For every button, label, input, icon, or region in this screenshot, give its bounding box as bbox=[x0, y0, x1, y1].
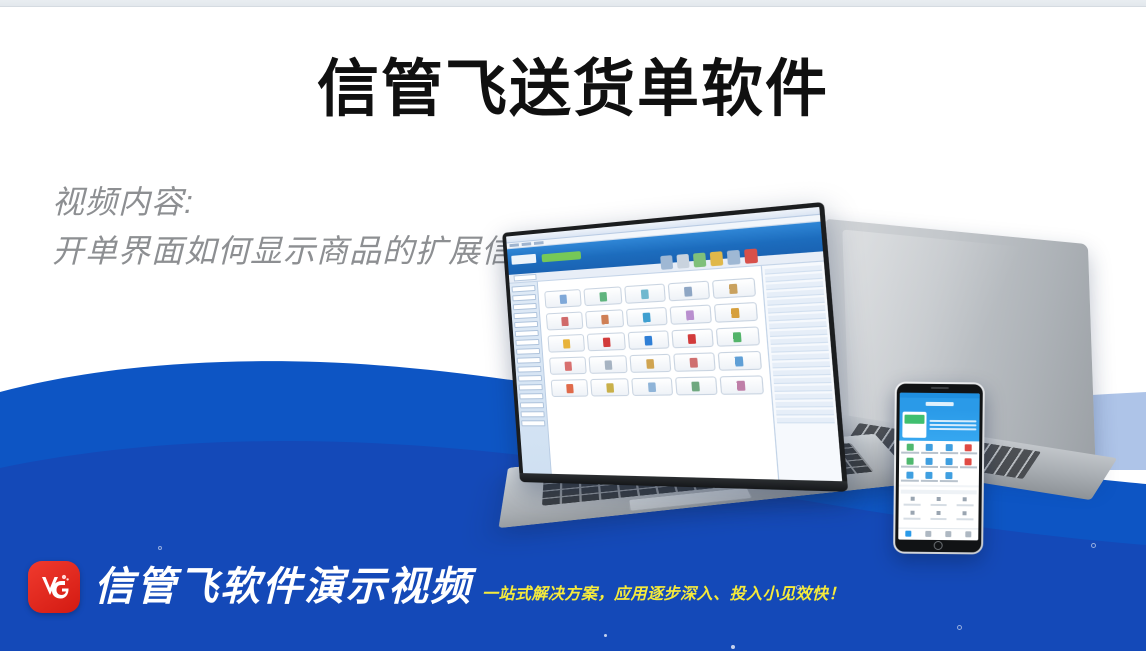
module-icon-glyph bbox=[729, 283, 738, 293]
phone-module-icon bbox=[940, 472, 958, 482]
module-icon bbox=[671, 328, 714, 348]
tab-reports-icon bbox=[945, 531, 951, 537]
stat-label bbox=[930, 518, 946, 520]
info-row bbox=[772, 353, 830, 360]
stat-value bbox=[936, 511, 940, 515]
phone-module-glyph bbox=[926, 444, 933, 451]
module-icon bbox=[626, 307, 667, 327]
phone-module-label bbox=[901, 479, 919, 481]
menu-item bbox=[534, 241, 544, 245]
stat-cell bbox=[900, 510, 923, 519]
stat-label bbox=[957, 504, 973, 506]
phone-module-glyph bbox=[906, 471, 913, 478]
phone-module-label bbox=[940, 466, 958, 468]
nav-item bbox=[518, 375, 542, 382]
module-icon-glyph bbox=[604, 360, 612, 370]
stats-header bbox=[901, 489, 977, 494]
footer-text-group: 信管飞软件演示视频 一站式解决方案，应用逐步深入、投入小见效快！ bbox=[94, 565, 845, 609]
module-icon-glyph bbox=[692, 381, 701, 391]
phone-module-label bbox=[901, 451, 919, 453]
module-icon-glyph bbox=[737, 380, 746, 390]
toolbar-button bbox=[660, 255, 673, 270]
stats-row bbox=[900, 510, 976, 520]
banner-device-image bbox=[902, 411, 926, 437]
module-icon-glyph bbox=[733, 332, 742, 342]
module-icon-glyph bbox=[561, 316, 569, 325]
module-icon bbox=[551, 379, 589, 397]
phone-module-icon bbox=[960, 458, 978, 468]
toolbar-button bbox=[676, 254, 689, 269]
stat-value bbox=[963, 497, 967, 501]
module-icon bbox=[669, 304, 712, 324]
phone-module-label bbox=[940, 480, 958, 482]
module-icon bbox=[716, 326, 761, 346]
nav-item bbox=[517, 357, 541, 364]
phone-stats-panel bbox=[898, 486, 978, 528]
tab-orders-icon bbox=[925, 531, 931, 537]
module-icon-grid bbox=[542, 273, 767, 401]
phone-module-label bbox=[921, 452, 939, 454]
module-icon-glyph bbox=[566, 383, 574, 392]
phone-module-glyph bbox=[965, 458, 972, 465]
module-icon-glyph bbox=[599, 291, 607, 301]
menu-item bbox=[509, 243, 519, 247]
stat-cell bbox=[927, 511, 950, 520]
stat-value bbox=[910, 511, 914, 515]
toolbar-button bbox=[727, 250, 741, 265]
module-icon-glyph bbox=[643, 312, 651, 322]
module-icon bbox=[712, 278, 756, 299]
module-icon bbox=[546, 311, 584, 330]
module-icon bbox=[544, 289, 582, 308]
nav-item bbox=[517, 366, 541, 373]
stat-label bbox=[930, 504, 946, 506]
module-icon bbox=[584, 286, 623, 306]
module-icon bbox=[714, 302, 758, 323]
tab-profile-icon bbox=[965, 532, 971, 538]
decorative-dot bbox=[731, 645, 735, 649]
main-workspace bbox=[538, 266, 778, 480]
module-icon bbox=[630, 354, 671, 373]
decorative-dot bbox=[158, 546, 162, 550]
phone-module-label bbox=[960, 466, 978, 468]
nav-item bbox=[513, 312, 537, 319]
phone-module-icon bbox=[959, 472, 977, 482]
window-body bbox=[509, 262, 842, 482]
stat-value bbox=[937, 497, 941, 501]
info-row bbox=[770, 337, 828, 345]
module-icon bbox=[547, 334, 585, 353]
info-row bbox=[771, 345, 829, 353]
module-icon bbox=[628, 330, 669, 350]
phone-module-glyph bbox=[926, 458, 933, 465]
module-icon bbox=[632, 377, 673, 396]
phone-banner bbox=[899, 408, 979, 441]
toolbar-button bbox=[744, 248, 758, 263]
stats-row bbox=[901, 496, 977, 506]
module-icon bbox=[717, 351, 762, 371]
stat-label bbox=[904, 503, 920, 505]
info-row bbox=[772, 361, 830, 368]
module-icon-glyph bbox=[731, 307, 740, 317]
nav-item bbox=[521, 420, 545, 426]
module-icon bbox=[675, 376, 718, 395]
info-row bbox=[775, 401, 833, 407]
module-icon bbox=[590, 378, 629, 396]
footer-bar: 信管飞软件演示视频 一站式解决方案，应用逐步深入、投入小见效快！ bbox=[28, 561, 845, 613]
module-icon bbox=[625, 284, 666, 304]
phone-app-title bbox=[926, 402, 954, 406]
info-row bbox=[773, 377, 831, 384]
front-laptop bbox=[508, 222, 938, 567]
info-row bbox=[776, 410, 834, 416]
module-icon-glyph bbox=[559, 294, 567, 304]
nav-item bbox=[515, 339, 539, 346]
phone-module-icon bbox=[901, 471, 919, 481]
phone-module-glyph bbox=[926, 472, 933, 479]
info-row bbox=[769, 321, 827, 329]
info-row bbox=[773, 369, 831, 376]
phone-module-icon bbox=[920, 472, 938, 482]
module-icon-glyph bbox=[606, 383, 614, 392]
menu-item bbox=[522, 242, 532, 246]
xinguanfei-bird-logo-icon bbox=[28, 561, 80, 613]
module-icon-glyph bbox=[644, 335, 652, 345]
phone-module-label bbox=[940, 452, 958, 454]
laptop-screen bbox=[506, 207, 842, 481]
phone-module-glyph bbox=[906, 443, 913, 450]
info-row bbox=[768, 305, 826, 314]
module-icon bbox=[719, 375, 764, 395]
module-icon bbox=[589, 355, 628, 374]
stat-cell bbox=[927, 497, 950, 506]
module-icon-glyph bbox=[646, 359, 654, 369]
phone-module-label bbox=[920, 480, 938, 482]
subtitle-line-1: 视频内容: bbox=[52, 178, 672, 227]
nav-item bbox=[515, 330, 539, 337]
stat-cell bbox=[953, 511, 976, 520]
phone-module-glyph bbox=[965, 444, 972, 451]
module-icon-glyph bbox=[688, 333, 697, 343]
info-row bbox=[770, 329, 828, 337]
phone-module-icon bbox=[940, 458, 958, 468]
phone-module-icon bbox=[901, 457, 919, 467]
phone-module-label bbox=[921, 466, 939, 468]
phone-module-glyph bbox=[906, 457, 913, 464]
phone-module-glyph bbox=[945, 472, 952, 479]
footer-tagline: 一站式解决方案，应用逐步深入、投入小见效快！ bbox=[482, 585, 845, 605]
front-laptop-lid bbox=[502, 202, 848, 492]
nav-item bbox=[521, 411, 545, 417]
nav-item bbox=[519, 393, 543, 399]
info-row bbox=[775, 393, 833, 399]
phone-tabbar bbox=[898, 527, 978, 540]
nav-item bbox=[520, 402, 544, 408]
module-icon-glyph bbox=[684, 286, 692, 296]
module-icon-glyph bbox=[690, 357, 699, 367]
module-icon-glyph bbox=[562, 339, 570, 348]
nav-item bbox=[514, 321, 538, 328]
module-icon bbox=[673, 352, 716, 372]
module-icon-glyph bbox=[564, 361, 572, 370]
phone-module-icon bbox=[960, 444, 978, 454]
page-title: 信管飞送货单软件 bbox=[0, 52, 1146, 128]
module-icon-glyph bbox=[648, 382, 656, 392]
tab-home-icon bbox=[905, 531, 911, 537]
phone-module-icon bbox=[921, 458, 939, 468]
phone-home-button bbox=[934, 541, 943, 550]
toolbar-button bbox=[693, 253, 706, 268]
stat-label bbox=[904, 517, 920, 519]
banner-line bbox=[929, 424, 976, 426]
decorative-dot bbox=[796, 585, 801, 590]
phone-module-icon bbox=[921, 444, 939, 454]
phone-screen bbox=[898, 393, 980, 541]
phone-module-icon bbox=[901, 443, 919, 453]
device-scene bbox=[508, 222, 1146, 567]
app-license-badge bbox=[542, 251, 582, 262]
nav-item bbox=[512, 285, 536, 293]
module-icon bbox=[587, 332, 626, 351]
decorative-dot bbox=[957, 625, 962, 630]
decorative-dot bbox=[1091, 543, 1096, 548]
banner-line bbox=[929, 428, 976, 430]
info-row bbox=[774, 385, 832, 392]
module-icon-glyph bbox=[641, 289, 649, 299]
module-icon-glyph bbox=[686, 310, 695, 320]
module-icon-glyph bbox=[735, 356, 744, 366]
stat-cell bbox=[901, 496, 924, 505]
app-logo-icon bbox=[511, 254, 536, 265]
tab-item bbox=[514, 274, 537, 282]
banner-text-lines bbox=[929, 420, 976, 430]
banner-line bbox=[929, 420, 976, 422]
phone-module-label bbox=[960, 452, 978, 454]
nav-item bbox=[512, 294, 536, 301]
stat-value bbox=[910, 497, 914, 501]
nav-item bbox=[519, 384, 543, 390]
phone-app-header bbox=[900, 397, 980, 409]
nav-item bbox=[513, 303, 537, 310]
stat-value bbox=[963, 511, 967, 515]
stat-cell bbox=[953, 497, 976, 506]
phone-bezel bbox=[895, 384, 983, 553]
module-icon-glyph bbox=[603, 337, 611, 347]
phone-module-label bbox=[901, 465, 919, 467]
phone-module-glyph bbox=[945, 458, 952, 465]
module-icon bbox=[667, 281, 710, 302]
phone-module-icon bbox=[940, 444, 958, 454]
info-row bbox=[777, 418, 835, 424]
smartphone bbox=[893, 382, 985, 555]
slide-canvas: 信管飞送货单软件 视频内容: 开单界面如何显示商品的扩展信息? bbox=[0, 0, 1146, 651]
info-row bbox=[768, 313, 826, 321]
module-icon bbox=[585, 309, 624, 328]
phone-module-grid bbox=[899, 440, 979, 485]
toolbar-button bbox=[710, 251, 724, 266]
stat-label bbox=[957, 518, 973, 520]
nav-item bbox=[516, 348, 540, 355]
phone-module-glyph bbox=[945, 444, 952, 451]
module-icon bbox=[549, 357, 587, 375]
module-icon-glyph bbox=[601, 314, 609, 324]
footer-brand: 信管飞软件演示视频 bbox=[94, 565, 472, 609]
decorative-dot bbox=[604, 634, 607, 637]
